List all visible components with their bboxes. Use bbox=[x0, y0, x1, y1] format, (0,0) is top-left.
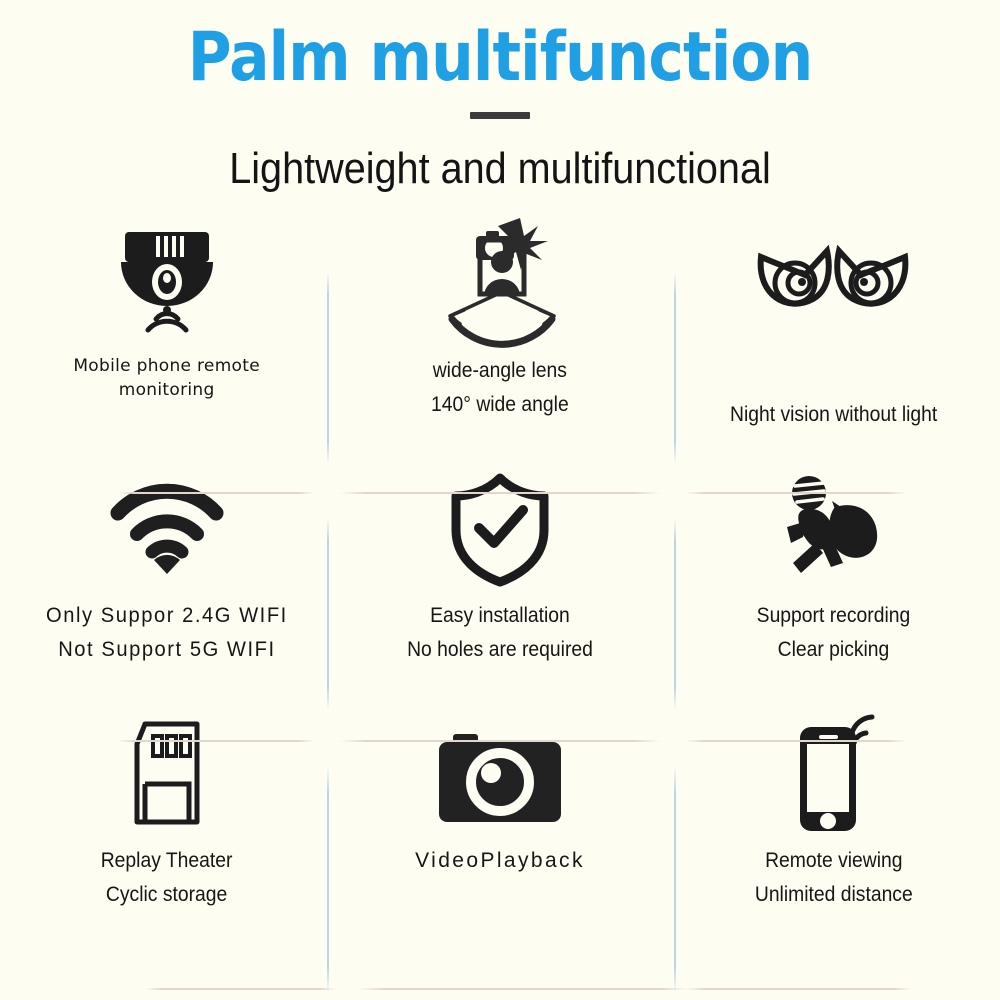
feature-label-line-2: Cyclic storage bbox=[101, 878, 233, 912]
feature-label-line-1: VideoPlayback bbox=[415, 844, 585, 878]
feature-label-line-2: Clear picking bbox=[757, 633, 911, 667]
icon-box bbox=[420, 218, 580, 350]
icon-box bbox=[743, 218, 923, 350]
icon-box bbox=[437, 708, 563, 840]
feature-labels: Support recording Clear picking bbox=[750, 599, 917, 667]
feature-label-line-2: No holes are required bbox=[407, 633, 593, 667]
feature-label-line-1: Night vision without light bbox=[730, 398, 937, 432]
feature-label-line-1: Support recording bbox=[757, 599, 911, 633]
sd-card-icon bbox=[119, 718, 215, 830]
grid-divider-horizontal-2a bbox=[118, 740, 314, 742]
icon-box bbox=[101, 218, 233, 350]
feature-label-line-2: Unlimited distance bbox=[754, 878, 912, 912]
icon-box bbox=[778, 708, 888, 840]
grid-divider-horizontal-3a bbox=[146, 988, 336, 990]
grid-divider-horizontal-1c bbox=[686, 492, 906, 494]
burglar-thief-icon bbox=[769, 471, 897, 587]
feature-labels: Night vision without light bbox=[721, 354, 946, 432]
feature-label-line-1: Easy installation bbox=[407, 599, 593, 633]
night-vision-eyes-icon bbox=[743, 229, 923, 339]
grid-divider-horizontal-2b bbox=[340, 740, 660, 742]
camera-icon bbox=[437, 722, 563, 826]
grid-divider-horizontal-1a bbox=[118, 492, 314, 494]
page-header: Palm multifunction Lightweight and multi… bbox=[0, 0, 1000, 200]
icon-box bbox=[104, 463, 230, 595]
icon-box bbox=[769, 463, 897, 595]
feature-labels: Mobile phone remote monitoring bbox=[73, 354, 260, 402]
feature-labels: wide-angle lens 140° wide angle bbox=[425, 354, 575, 422]
feature-cell-night-vision: Night vision without light bbox=[667, 214, 1000, 459]
wide-angle-camera-icon bbox=[420, 214, 580, 354]
page-subtitle: Lightweight and multifunctional bbox=[50, 138, 950, 200]
feature-label-line-2: Not Support 5G WIFI bbox=[46, 633, 288, 667]
feature-label-line-2: monitoring bbox=[73, 378, 260, 402]
feature-cell-mobile-remote-monitoring: Mobile phone remote monitoring bbox=[0, 214, 333, 459]
page-title: Palm multifunction bbox=[60, 14, 940, 102]
shield-check-icon bbox=[444, 470, 556, 588]
grid-divider-vertical-5 bbox=[327, 766, 329, 994]
title-divider bbox=[470, 112, 530, 119]
feature-label-line-2: 140° wide angle bbox=[431, 388, 569, 422]
grid-divider-vertical-1 bbox=[327, 272, 329, 464]
grid-divider-horizontal-3c bbox=[686, 988, 912, 990]
dome-security-camera-icon bbox=[101, 220, 233, 348]
title-divider-wrap bbox=[0, 102, 1000, 128]
grid-divider-vertical-4 bbox=[674, 518, 676, 710]
feature-cell-support-recording: Support recording Clear picking bbox=[667, 459, 1000, 704]
wifi-icon bbox=[104, 479, 230, 579]
feature-labels: Replay Theater Cyclic storage bbox=[95, 844, 238, 912]
feature-labels: Only Suppor 2.4G WIFI Not Support 5G WIF… bbox=[41, 599, 293, 667]
feature-labels: VideoPlayback bbox=[415, 844, 585, 878]
feature-cell-easy-installation: Easy installation No holes are required bbox=[333, 459, 666, 704]
grid-divider-vertical-6 bbox=[674, 766, 676, 994]
feature-grid: Mobile phone remote monitoring bbox=[0, 214, 1000, 949]
feature-label-line-1: Replay Theater bbox=[101, 844, 233, 878]
feature-labels: Easy installation No holes are required bbox=[399, 599, 601, 667]
grid-divider-vertical-2 bbox=[674, 272, 676, 464]
grid-divider-vertical-3 bbox=[327, 518, 329, 710]
feature-cell-wifi-support: Only Suppor 2.4G WIFI Not Support 5G WIF… bbox=[0, 459, 333, 704]
feature-labels: Remote viewing Unlimited distance bbox=[748, 844, 920, 912]
feature-label-line-1: Mobile phone remote bbox=[73, 354, 260, 378]
feature-label-line-1: wide-angle lens bbox=[431, 354, 569, 388]
grid-divider-horizontal-2c bbox=[686, 740, 906, 742]
feature-highlights-page: Palm multifunction Lightweight and multi… bbox=[0, 0, 1000, 1000]
smartphone-signal-icon bbox=[778, 711, 888, 837]
icon-box bbox=[444, 463, 556, 595]
grid-divider-horizontal-3b bbox=[358, 988, 688, 990]
icon-box bbox=[119, 708, 215, 840]
feature-cell-wide-angle-lens: wide-angle lens 140° wide angle bbox=[333, 214, 666, 459]
feature-label-line-1: Remote viewing bbox=[754, 844, 912, 878]
feature-label-line-1: Only Suppor 2.4G WIFI bbox=[46, 599, 288, 633]
grid-divider-horizontal-1b bbox=[340, 492, 660, 494]
